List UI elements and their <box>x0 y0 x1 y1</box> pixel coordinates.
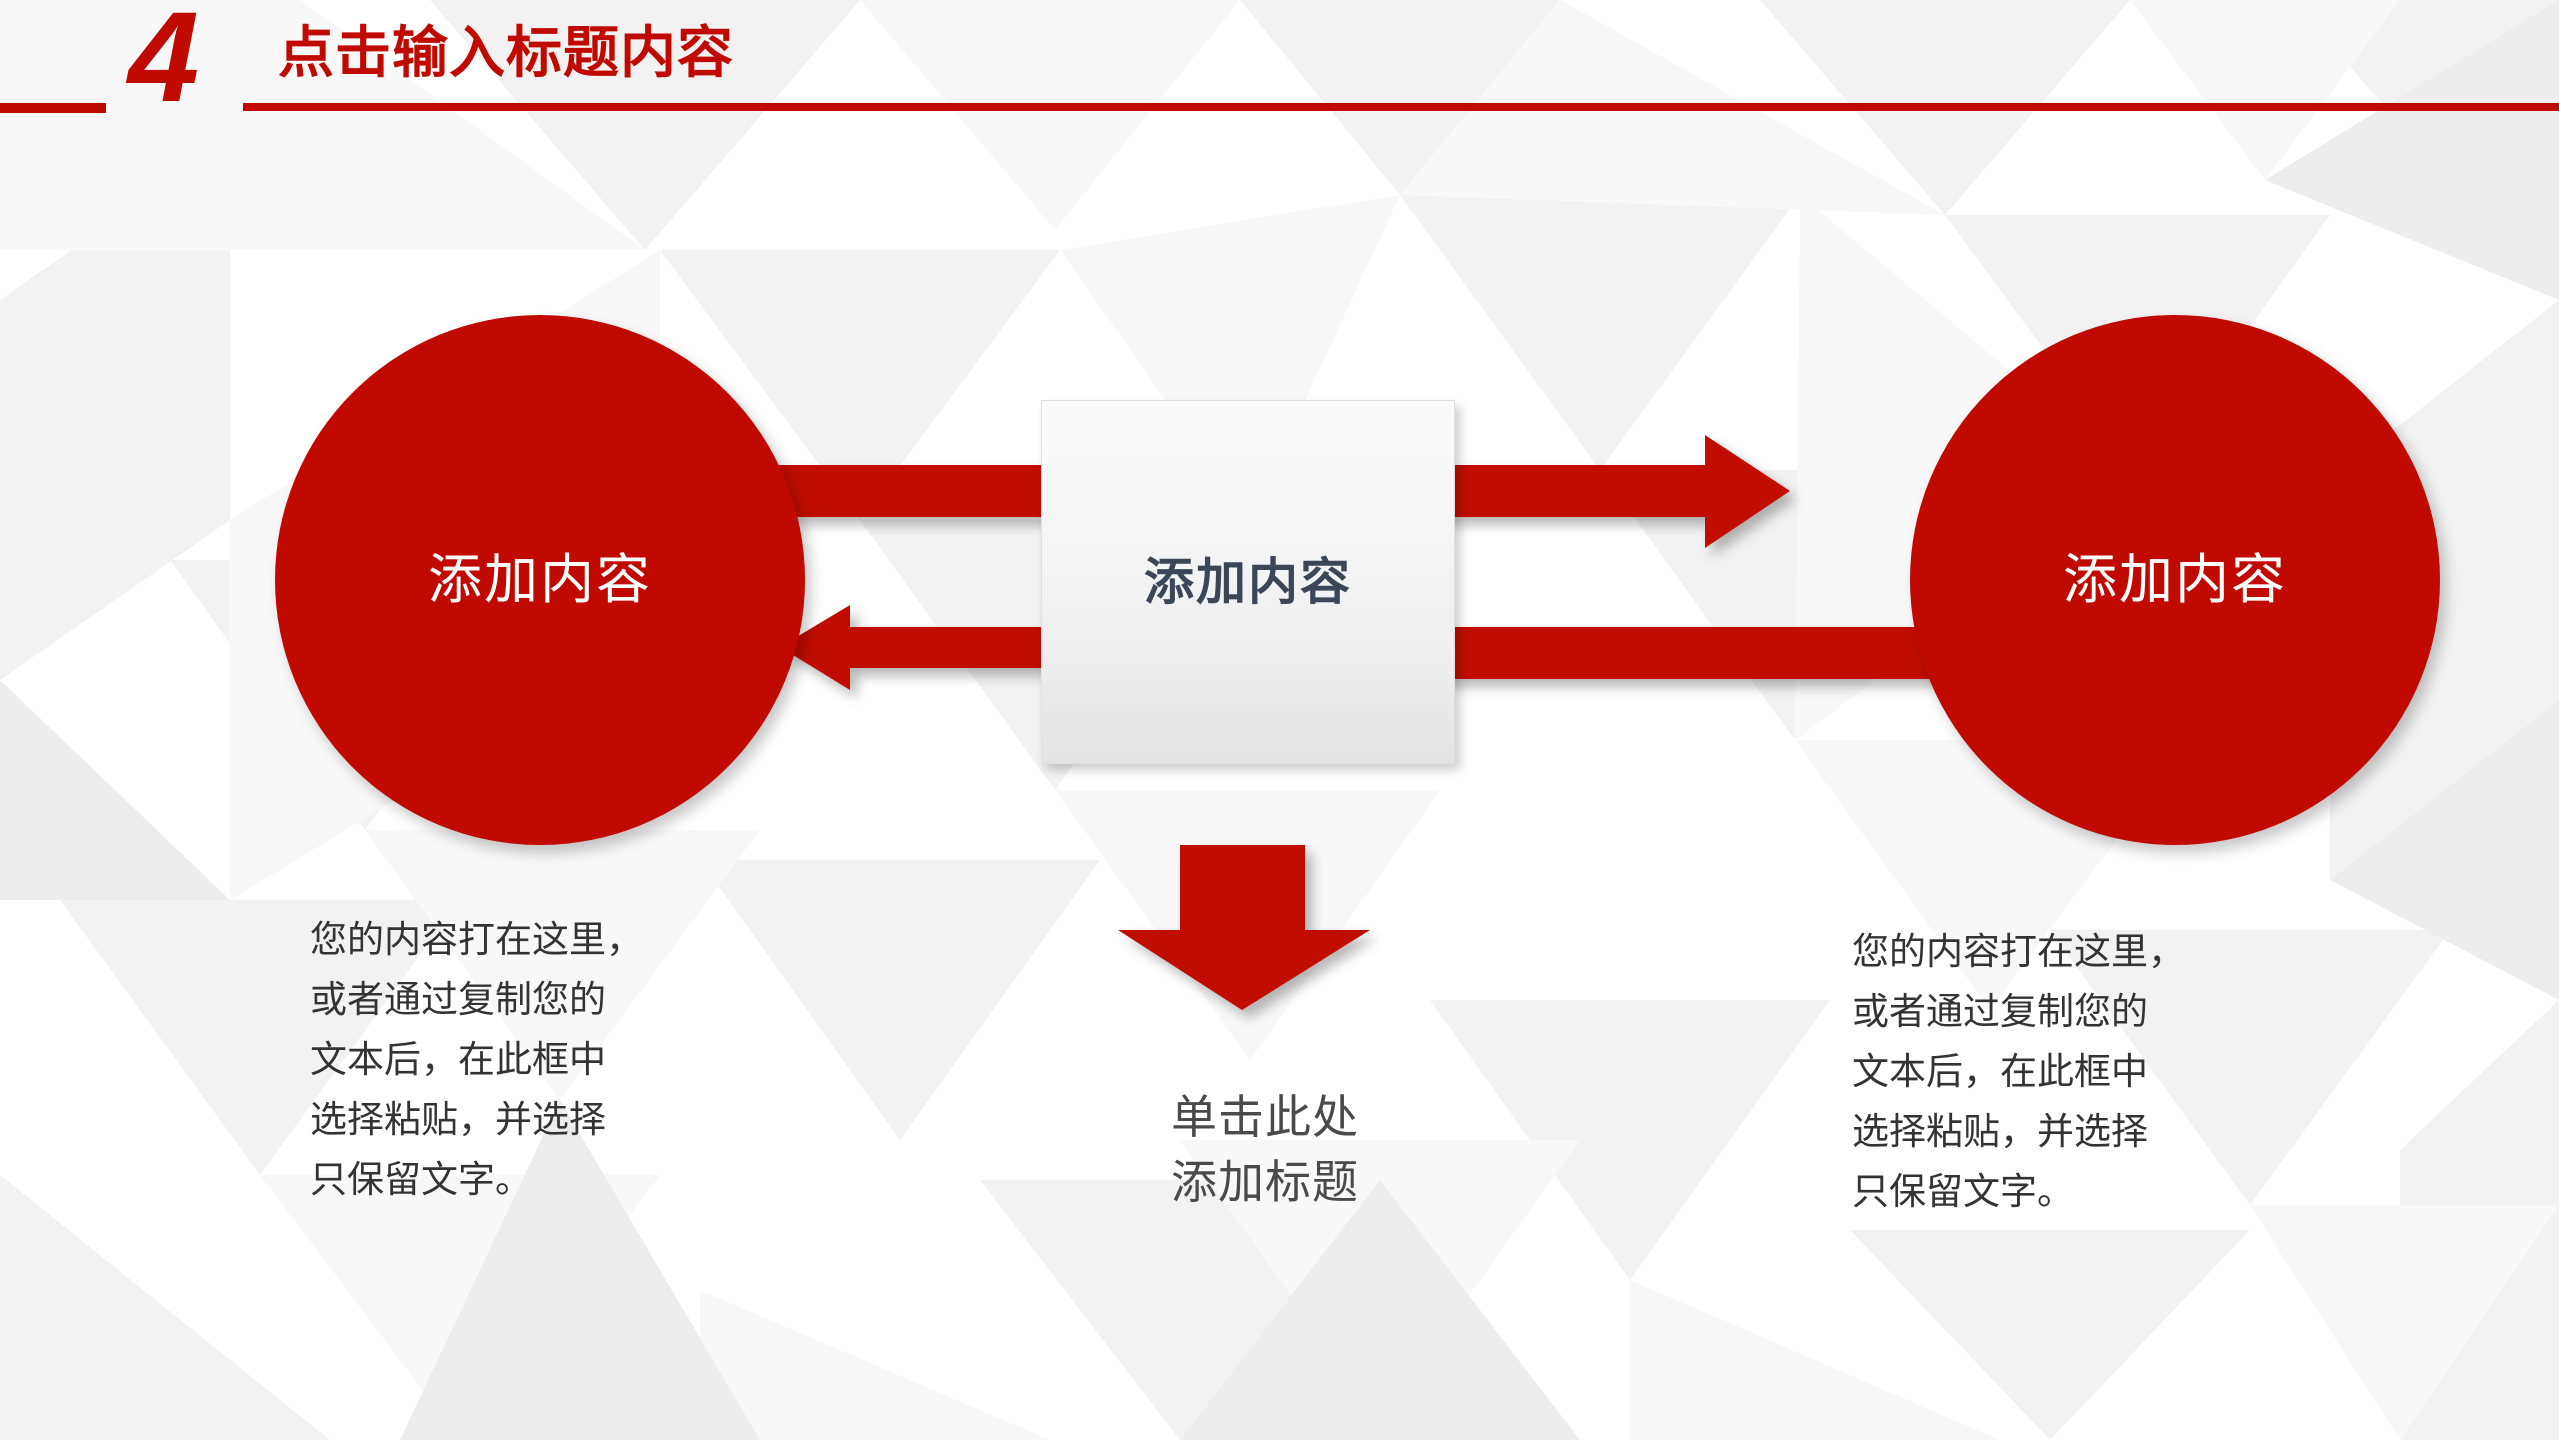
body-text-right: 您的内容打在这里， 或者通过复制您的 文本后，在此框中 选择粘贴，并选择 只保留… <box>1852 922 2252 1222</box>
presentation-slide: 4 点击输入标题内容 添加内容 添加内容 添加内容 您的内容打在 <box>0 0 2559 1440</box>
center-caption: 单击此处 添加标题 <box>1100 1085 1430 1216</box>
body-text-right-line-4: 选择粘贴，并选择 <box>1852 1102 2252 1162</box>
center-caption-line-2: 添加标题 <box>1100 1150 1430 1215</box>
body-text-left-line-2: 或者通过复制您的 <box>310 970 710 1030</box>
body-text-left-line-1: 您的内容打在这里， <box>310 910 710 970</box>
body-text-right-line-5: 只保留文字。 <box>1852 1162 2252 1222</box>
diagram-node-right-label: 添加内容 <box>2063 553 2287 607</box>
body-text-right-line-1: 您的内容打在这里， <box>1852 922 2252 982</box>
body-text-left-line-5: 只保留文字。 <box>310 1150 710 1210</box>
body-text-left-line-4: 选择粘贴，并选择 <box>310 1090 710 1150</box>
connector-center-down-arrow <box>1118 845 1370 1010</box>
diagram-node-center[interactable]: 添加内容 <box>1041 400 1455 764</box>
diagram-node-center-label: 添加内容 <box>1144 557 1352 607</box>
body-text-left: 您的内容打在这里， 或者通过复制您的 文本后，在此框中 选择粘贴，并选择 只保留… <box>310 910 710 1210</box>
connector-center-to-left-arrow <box>780 605 1060 690</box>
diagram-node-left-label: 添加内容 <box>428 553 652 607</box>
body-text-right-line-2: 或者通过复制您的 <box>1852 982 2252 1042</box>
body-text-right-line-3: 文本后，在此框中 <box>1852 1042 2252 1102</box>
connector-center-to-left-top-bar <box>760 465 1060 517</box>
connector-center-to-right-arrow <box>1440 435 1790 548</box>
diagram-node-left[interactable]: 添加内容 <box>275 315 805 845</box>
diagram-node-right[interactable]: 添加内容 <box>1910 315 2440 845</box>
center-caption-line-1: 单击此处 <box>1100 1085 1430 1150</box>
body-text-left-line-3: 文本后，在此框中 <box>310 1030 710 1090</box>
